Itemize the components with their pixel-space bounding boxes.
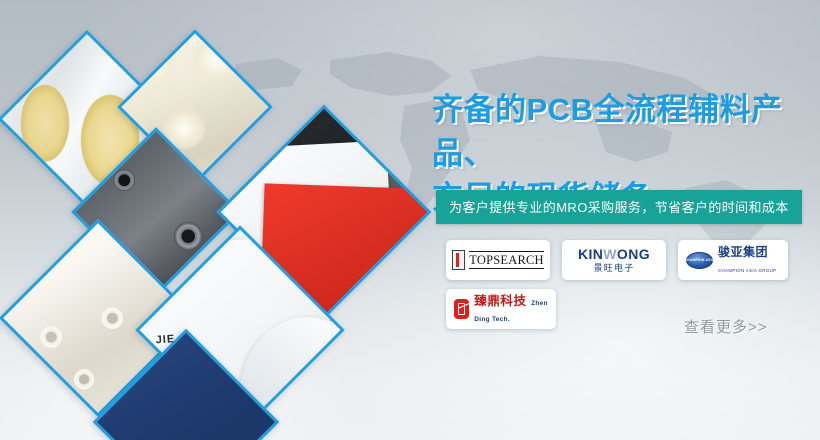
champion-asia-en-name: CHAMPION ASIA GROUP [718, 268, 776, 273]
topsearch-wordmark: TOPSEARCH [469, 251, 544, 269]
client-logo-zhen-ding[interactable]: 臻鼎科技 Zhen Ding Tech. [446, 289, 556, 329]
client-logo-kinwong[interactable]: KINWONG 景旺电子 [562, 240, 666, 280]
champion-asia-cn-name: 骏亚集团 [718, 245, 768, 259]
headline-line-1: 齐备的PCB全流程辅料产品、 [432, 92, 782, 171]
zhen-ding-cn-name: 臻鼎科技 [474, 294, 526, 308]
kinwong-wordmark: KINWONG [578, 247, 650, 261]
zhen-ding-mark-icon [454, 299, 469, 319]
client-logo-topsearch[interactable]: TOPSEARCH [446, 240, 550, 280]
kinwong-en-part-a: KIN [578, 246, 603, 262]
banner-subtitle-bar: 为客户提供专业的MRO采购服务，节省客户的时间和成本 [436, 190, 802, 224]
kinwong-en-part-b: ONG [617, 246, 650, 262]
client-logo-row-1: TOPSEARCH KINWONG 景旺电子 CHAMPION ASIA 骏亚集… [446, 240, 796, 280]
view-more-link[interactable]: 查看更多>> [684, 316, 768, 337]
kinwong-en-part-w: W [603, 246, 617, 262]
topsearch-mark-icon [452, 250, 465, 270]
promo-banner: JIE 齐备的PCB全流程辅料产品、 充足的现货储备 为客户提供专业的MRO采购… [0, 0, 820, 440]
client-logo-champion-asia[interactable]: CHAMPION ASIA 骏亚集团 CHAMPION ASIA GROUP [678, 240, 788, 280]
champion-asia-globe-icon: CHAMPION ASIA [686, 252, 713, 269]
product-diamond-collage: JIE [0, 0, 430, 440]
kinwong-cn-name: 景旺电子 [578, 264, 650, 273]
champion-asia-globe-text: CHAMPION ASIA [685, 258, 715, 262]
